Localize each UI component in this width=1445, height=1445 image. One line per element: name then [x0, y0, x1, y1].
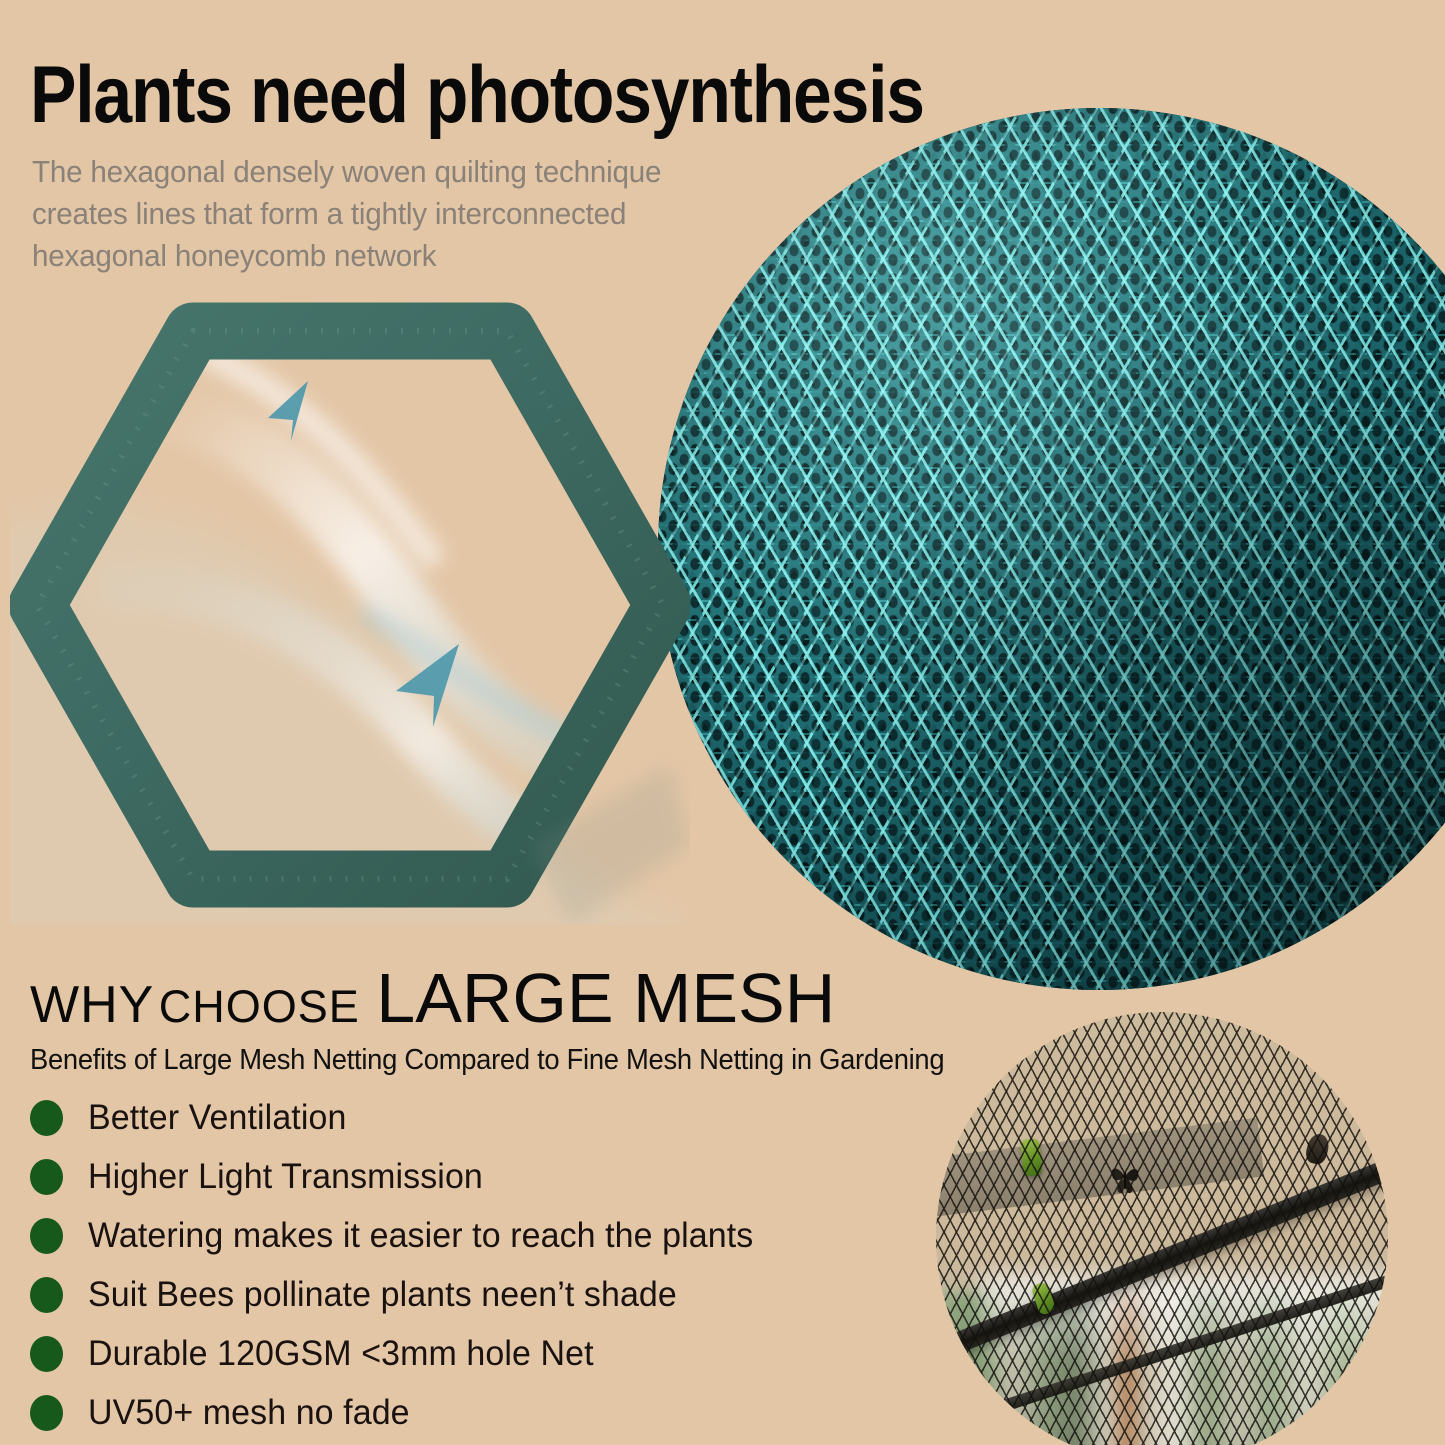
heading-choose: CHOOSE: [159, 981, 360, 1032]
section-heading: WHY CHOOSE LARGE MESH: [30, 958, 835, 1038]
mesh-shading-layer: [658, 108, 1445, 990]
list-item-label: Watering makes it easier to reach the pl…: [88, 1216, 753, 1256]
heading-why: WHY: [30, 976, 154, 1034]
fine-mesh-netting-photo: [936, 1012, 1388, 1445]
bullet-dot-icon: [30, 1218, 63, 1254]
list-item-label: Higher Light Transmission: [88, 1157, 483, 1197]
list-item: Higher Light Transmission: [30, 1149, 910, 1205]
infographic-page: Plants need photosynthesis The hexagonal…: [0, 0, 1445, 1445]
list-item: Suit Bees pollinate plants neen’t shade: [30, 1267, 910, 1323]
section-subtitle: Benefits of Large Mesh Netting Compared …: [30, 1044, 944, 1077]
list-item: UV50+ mesh no fade: [30, 1385, 910, 1441]
bullet-dot-icon: [30, 1159, 63, 1195]
bullet-dot-icon: [30, 1395, 63, 1431]
page-title: Plants need photosynthesis: [30, 58, 804, 133]
list-item-label: Durable 120GSM <3mm hole Net: [88, 1334, 594, 1374]
benefits-list: Better Ventilation Higher Light Transmis…: [30, 1090, 910, 1444]
bullet-dot-icon: [30, 1277, 63, 1313]
bullet-dot-icon: [30, 1100, 63, 1136]
photo-vignette: [936, 1012, 1388, 1445]
heading-large-mesh: LARGE MESH: [376, 959, 835, 1037]
list-item-label: Better Ventilation: [88, 1098, 346, 1138]
list-item-label: Suit Bees pollinate plants neen’t shade: [88, 1275, 677, 1315]
teal-large-mesh-closeup-image: [658, 108, 1445, 990]
list-item: Durable 120GSM <3mm hole Net: [30, 1326, 910, 1382]
list-item: Watering makes it easier to reach the pl…: [30, 1208, 910, 1264]
list-item: Better Ventilation: [30, 1090, 910, 1146]
hexagon-airflow-diagram: [10, 285, 690, 925]
page-subtitle: The hexagonal densely woven quilting tec…: [32, 152, 730, 277]
bullet-dot-icon: [30, 1336, 63, 1372]
list-item-label: UV50+ mesh no fade: [88, 1393, 410, 1433]
